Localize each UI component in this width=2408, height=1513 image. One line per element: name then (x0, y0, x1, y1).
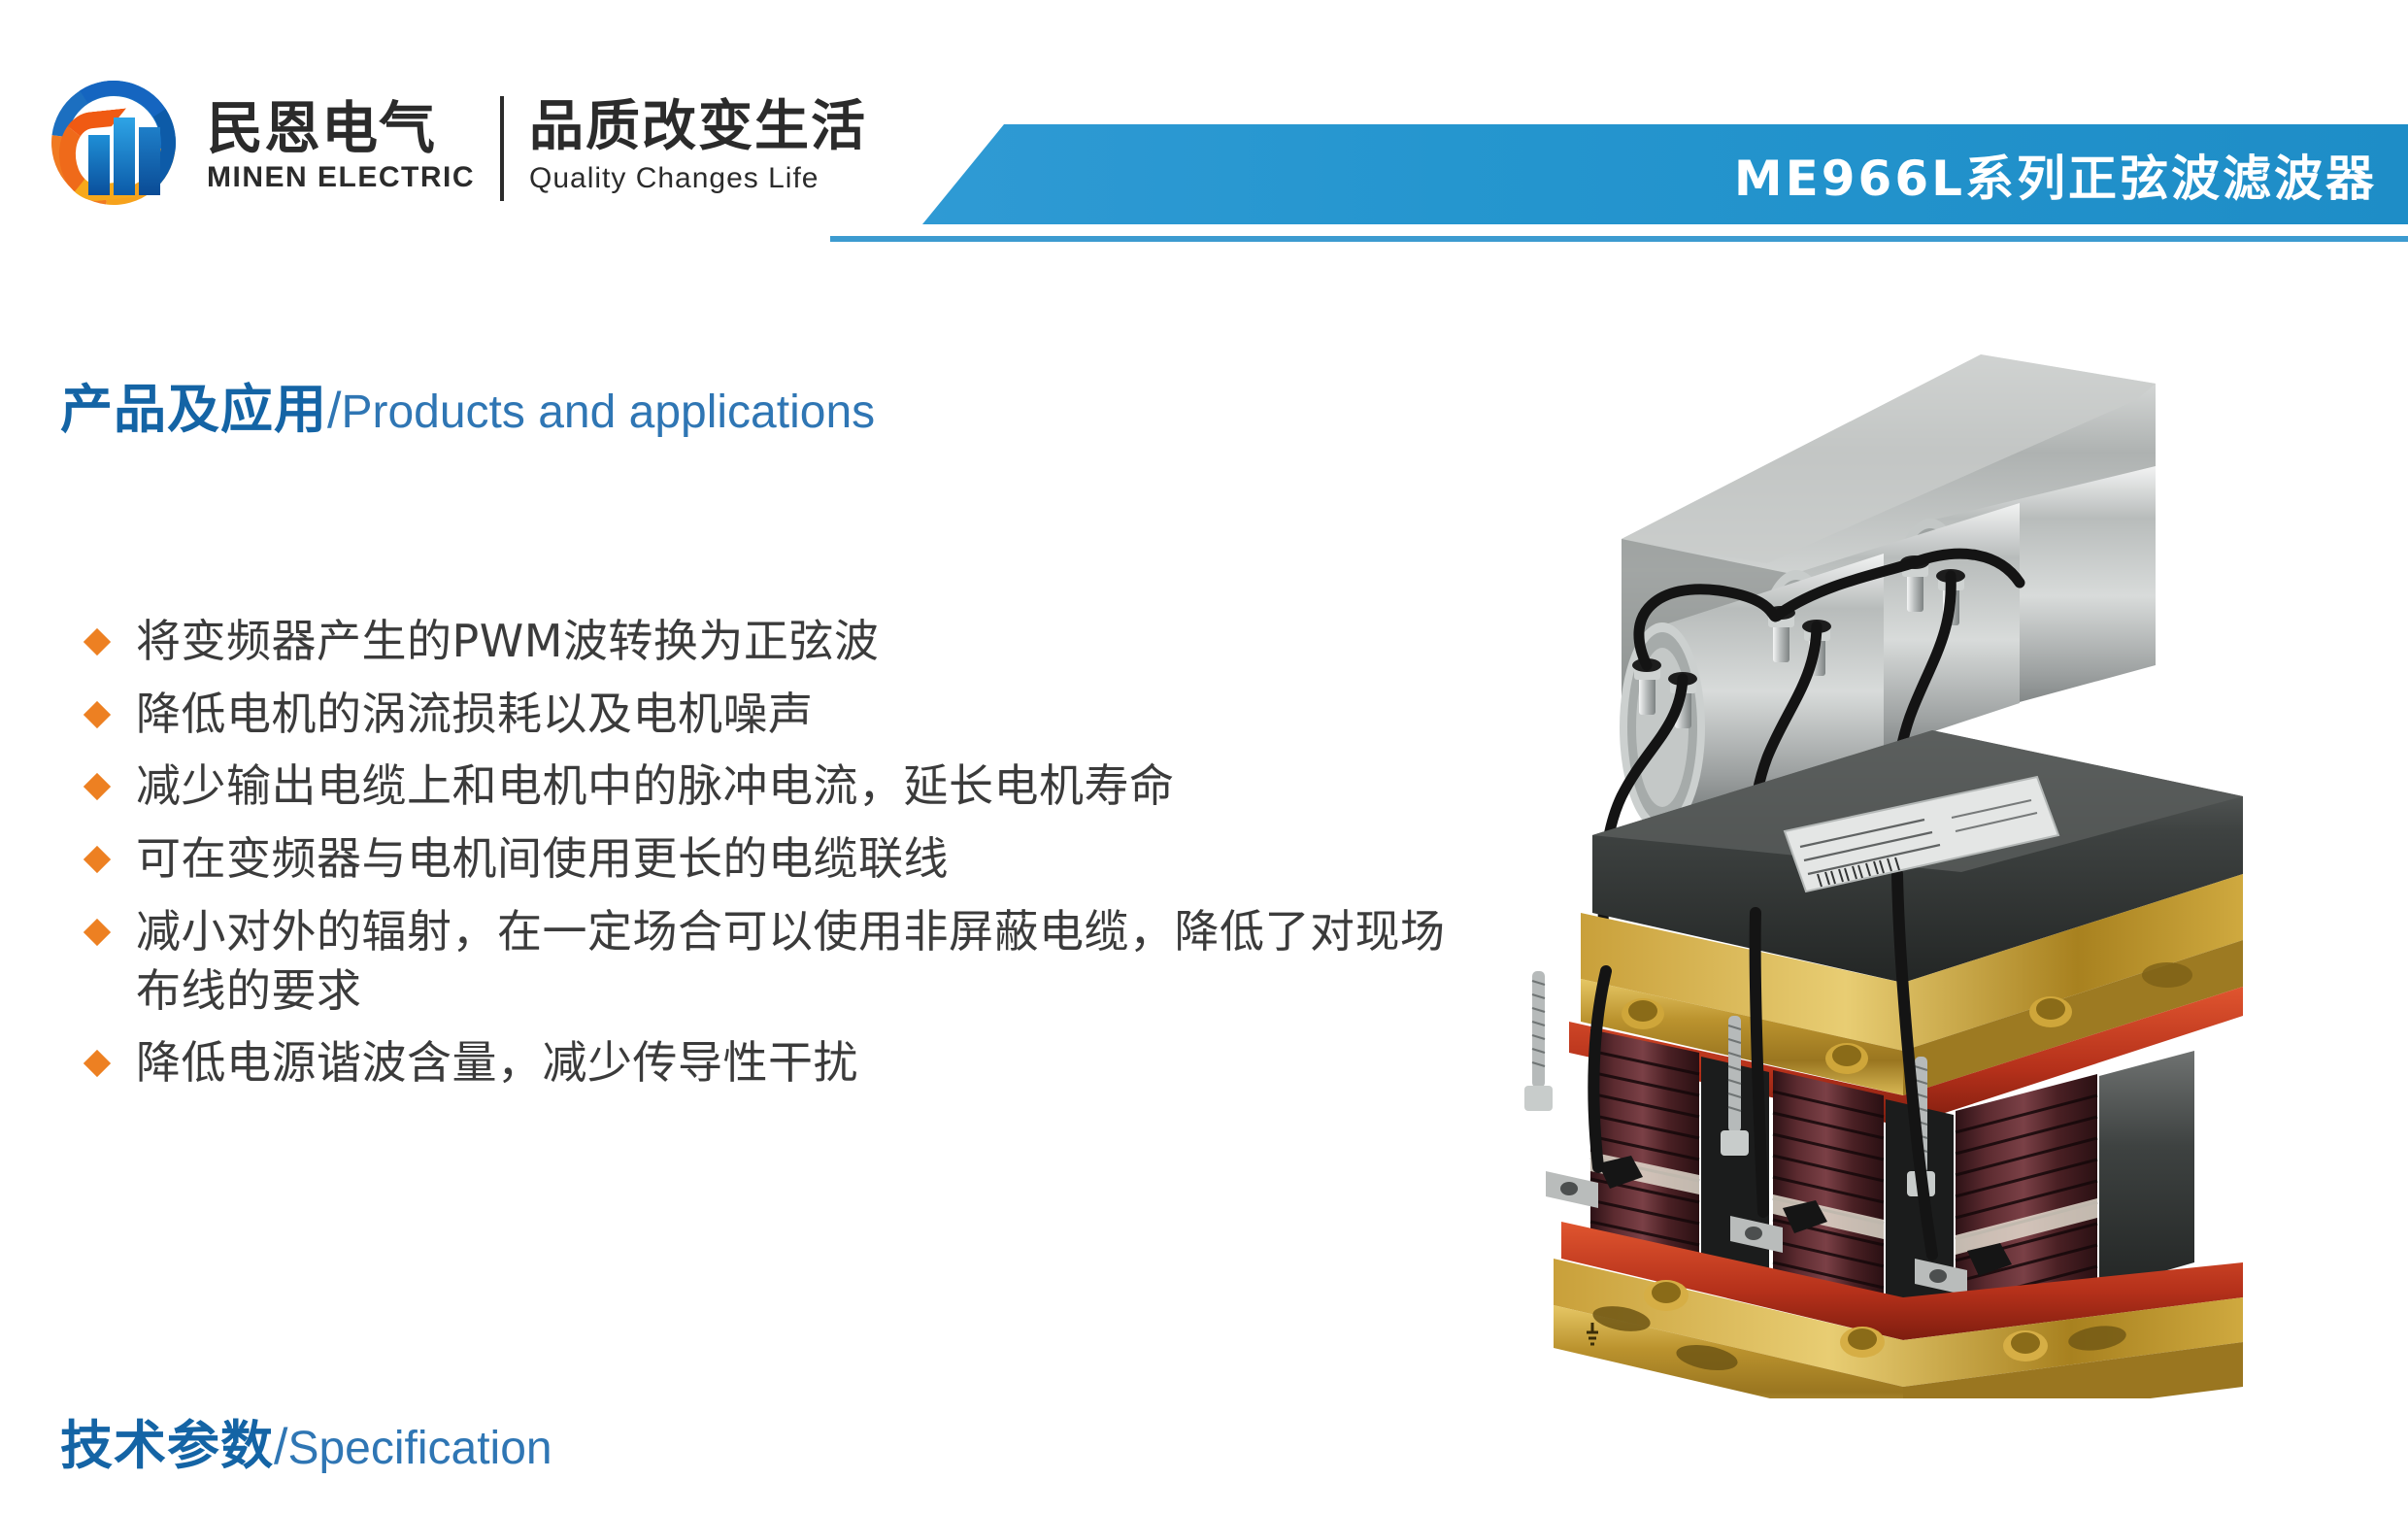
section-heading-products-en: Products and applications (341, 387, 875, 438)
list-item: 可在变频器与电机间使用更长的电缆联线 (87, 829, 1466, 889)
company-name-cn: 民恩电气 (207, 102, 475, 155)
bracket-bolt (1825, 1043, 1868, 1074)
diamond-bullet-icon (84, 773, 111, 800)
section-heading-specification-cn: 技术参数 (60, 1415, 274, 1476)
diamond-bullet-icon (84, 628, 111, 656)
logo-bar-3-icon (139, 127, 160, 195)
section-heading-specification-separator: / (274, 1419, 287, 1475)
list-item-label: 降低电源谐波含量，减少传导性干扰 (136, 1033, 858, 1093)
diamond-bullet-icon (84, 1050, 111, 1077)
base-bolt (1840, 1327, 1885, 1358)
slogan-en: Quality Changes Life (529, 162, 867, 195)
slogan-cn: 品质改变生活 (529, 101, 867, 154)
coil-1 (1590, 1029, 1699, 1264)
list-item-label: 将变频器产生的PWM波转换为正弦波 (136, 612, 879, 671)
company-name-en: MINEN ELECTRIC (207, 161, 475, 194)
section-heading-specification: 技术参数/Specification (60, 1420, 552, 1472)
base-bolt (1644, 1280, 1689, 1311)
list-item: 减少输出电缆上和电机中的脉冲电流，延长电机寿命 (87, 756, 1466, 816)
list-item: 减小对外的辐射，在一定场合可以使用非屏蔽电缆，降低了对现场布线的要求 (87, 902, 1466, 1020)
diamond-bullet-icon (84, 919, 111, 946)
bracket-bolt (2029, 996, 2072, 1027)
minen-electric-logo-mark-icon (44, 73, 189, 219)
product-photo-sine-wave-filter (1476, 291, 2350, 1398)
header-underline-rule (830, 236, 2408, 242)
logo-divider (500, 96, 504, 201)
base-bolt (2003, 1330, 2048, 1362)
page-header: 民恩电气 MINEN ELECTRIC 品质改变生活 Quality Chang… (0, 0, 2408, 257)
product-title-banner: ME966L系列正弦波滤波器 (922, 124, 2408, 224)
list-item-label: 减小对外的辐射，在一定场合可以使用非屏蔽电缆，降低了对现场布线的要求 (136, 902, 1466, 1020)
section-heading-products-separator: / (327, 383, 341, 439)
slogan-block: 品质改变生活 Quality Changes Life (529, 101, 867, 195)
diamond-bullet-icon (84, 846, 111, 873)
list-item-label: 降低电机的涡流损耗以及电机噪声 (136, 685, 814, 744)
banner-title-text: ME966L系列正弦波滤波器 (1734, 124, 2377, 224)
section-heading-products-cn: 产品及应用 (60, 379, 327, 440)
product-photo-illustration (1476, 291, 2350, 1398)
logo-bar-1-icon (88, 135, 110, 195)
list-item-label: 减少输出电缆上和电机中的脉冲电流，延长电机寿命 (136, 756, 1175, 816)
list-item: 降低电源谐波含量，减少传导性干扰 (87, 1033, 1466, 1093)
company-name-block: 民恩电气 MINEN ELECTRIC (207, 102, 475, 194)
logo-bar-2-icon (114, 118, 135, 195)
list-item: 降低电机的涡流损耗以及电机噪声 (87, 685, 1466, 744)
product-features-list: 将变频器产生的PWM波转换为正弦波 降低电机的涡流损耗以及电机噪声 减少输出电缆… (87, 612, 1466, 1106)
list-item: 将变频器产生的PWM波转换为正弦波 (87, 612, 1466, 671)
brand-text: 民恩电气 MINEN ELECTRIC 品质改变生活 Quality Chang… (207, 96, 867, 201)
bracket-bolt (1622, 998, 1664, 1029)
section-heading-specification-en: Specification (287, 1423, 552, 1474)
list-item-label: 可在变频器与电机间使用更长的电缆联线 (136, 829, 949, 889)
diamond-bullet-icon (84, 701, 111, 728)
stud-bolt (1524, 971, 1553, 1111)
brand-logo: 民恩电气 MINEN ELECTRIC 品质改变生活 Quality Chang… (44, 92, 867, 204)
section-heading-products-and-applications: 产品及应用/Products and applications (60, 384, 875, 436)
